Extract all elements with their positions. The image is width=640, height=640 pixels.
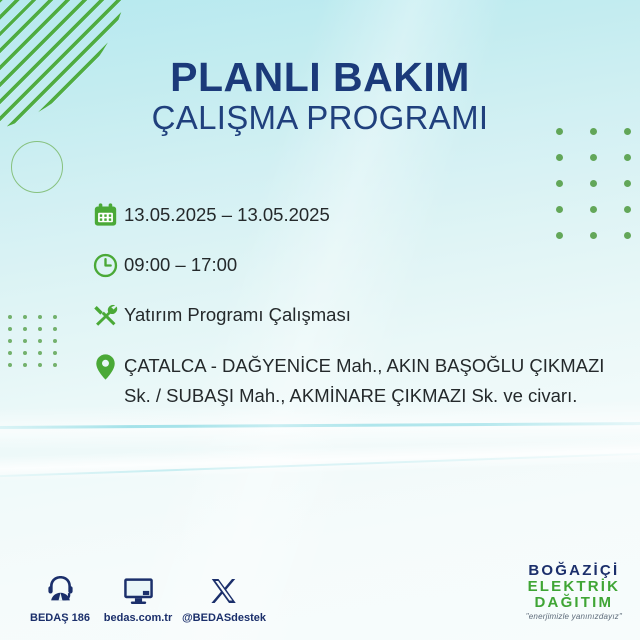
work-type-text: Yatırım Programı Çalışması (124, 298, 610, 330)
contact-website-label: bedas.com.tr (92, 612, 184, 624)
detail-row-worktype: Yatırım Programı Çalışması (86, 298, 610, 332)
title-secondary: ÇALIŞMA PROGRAMI (0, 99, 640, 138)
contact-phone-label: BEDAŞ 186 (18, 612, 102, 624)
detail-row-date: 13.05.2025 – 13.05.2025 (86, 198, 610, 232)
outage-details: 13.05.2025 – 13.05.2025 09:00 – 17:00 Ya… (86, 198, 610, 426)
logo-tagline: "enerjimizle yanınızdayız" (526, 613, 622, 622)
contact-social[interactable]: @BEDASdestek (172, 570, 276, 624)
location-pin-icon (86, 348, 124, 384)
poster-canvas: PLANLI BAKIM ÇALIŞMA PROGRAMI (0, 0, 640, 640)
page-title: PLANLI BAKIM ÇALIŞMA PROGRAMI (0, 56, 640, 138)
contact-website[interactable]: bedas.com.tr (92, 570, 184, 624)
title-primary: PLANLI BAKIM (0, 56, 640, 99)
monitor-icon (92, 570, 184, 606)
dot-grid-left-decoration (8, 315, 68, 375)
wave-band-lower-decoration (0, 436, 640, 483)
contact-social-label: @BEDASdestek (172, 612, 276, 624)
x-twitter-icon (172, 570, 276, 606)
logo-line-elektrik: ELEKTRİK (526, 579, 622, 595)
location-text: ÇATALCA - DAĞYENİCE Mah., AKIN BAŞOĞLU Ç… (124, 348, 610, 410)
logo-line-dagitim: DAĞITIM (526, 595, 622, 611)
date-range-text: 13.05.2025 – 13.05.2025 (124, 198, 610, 230)
contact-phone[interactable]: BEDAŞ 186 (18, 570, 102, 624)
calendar-icon (86, 198, 124, 232)
tools-icon (86, 298, 124, 332)
wave-line-lower-decoration (0, 451, 640, 480)
headset-support-icon (18, 570, 102, 606)
clock-icon (86, 248, 124, 282)
circle-outline-decoration (11, 141, 63, 193)
company-logo: BOĞAZİÇİ ELEKTRİK DAĞITIM "enerjimizle y… (526, 563, 622, 622)
logo-line-bogazici: BOĞAZİÇİ (526, 563, 622, 579)
time-range-text: 09:00 – 17:00 (124, 248, 610, 280)
detail-row-location: ÇATALCA - DAĞYENİCE Mah., AKIN BAŞOĞLU Ç… (86, 348, 610, 410)
detail-row-time: 09:00 – 17:00 (86, 248, 610, 282)
